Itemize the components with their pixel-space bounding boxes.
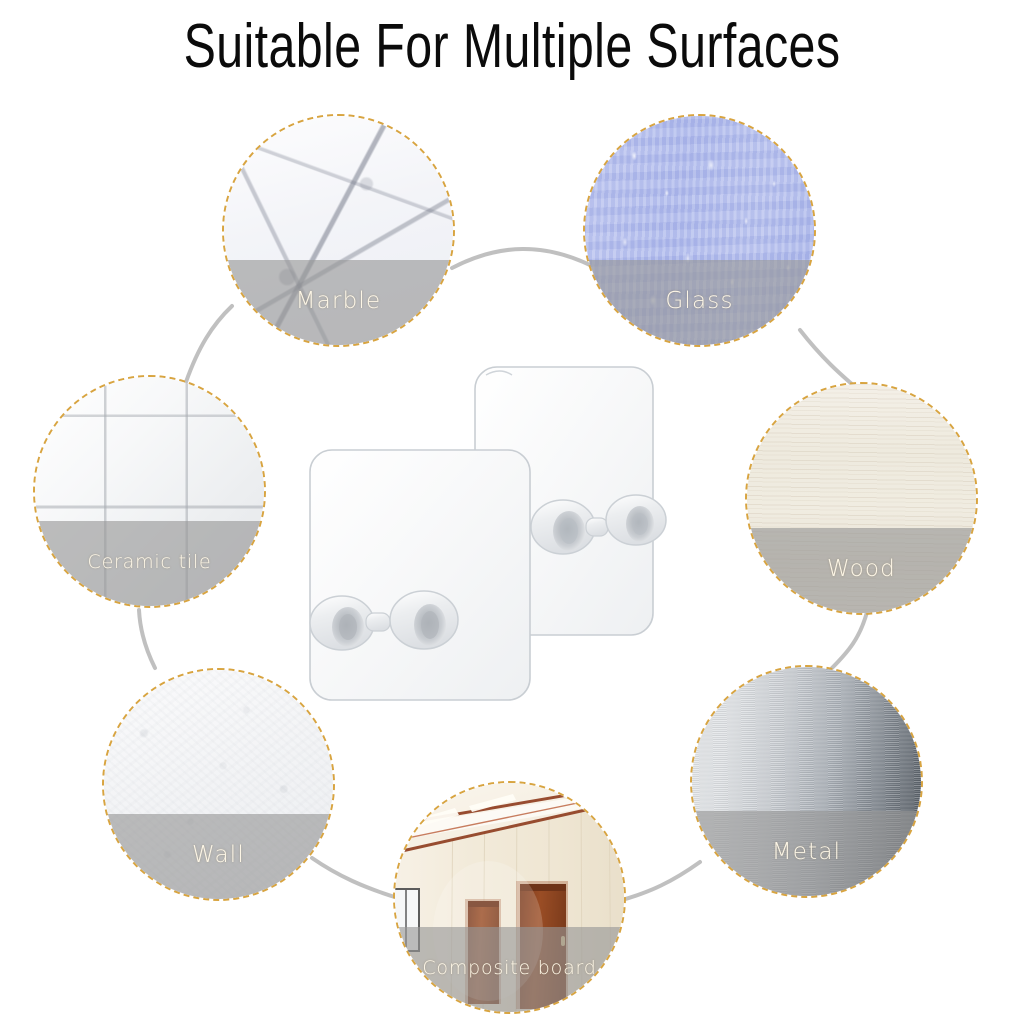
surface-label-wood: Wood (827, 556, 896, 582)
surface-circle-wood[interactable]: Wood (745, 382, 978, 615)
surface-label-band: Glass (583, 260, 816, 347)
surface-label-band: Ceramic tile (33, 521, 266, 608)
surface-circle-composite-board[interactable]: Composite board (393, 781, 626, 1014)
infographic-canvas: Suitable For Multiple Surfaces (0, 0, 1024, 1024)
surface-label-composite-board: Composite board (422, 957, 596, 979)
surface-label-wall: Wall (192, 842, 245, 868)
link-wall-ceramic (139, 610, 155, 668)
surface-circle-metal[interactable]: Metal (690, 665, 923, 898)
surface-label-glass: Glass (665, 288, 733, 314)
surface-circle-glass[interactable]: Glass (583, 114, 816, 347)
surface-label-band: Wood (745, 528, 978, 615)
surface-label-band: Marble (222, 260, 455, 347)
surface-label-marble: Marble (296, 288, 382, 314)
hook-front-2 (390, 591, 458, 649)
product-adhesive-hooks (300, 355, 680, 715)
surface-circle-wall[interactable]: Wall (102, 668, 335, 901)
surface-label-ceramic-tile: Ceramic tile (88, 551, 212, 573)
hook-panel-front (310, 450, 530, 700)
surface-circle-marble[interactable]: Marble (222, 114, 455, 347)
surface-label-band: Composite board (393, 927, 626, 1014)
surface-label-band: Wall (102, 814, 335, 901)
hook-back-2 (606, 495, 666, 545)
surface-circle-ceramic-tile[interactable]: Ceramic tile (33, 375, 266, 608)
link-marble-glass (452, 249, 592, 268)
link-metal-composite (622, 862, 700, 900)
surface-label-band: Metal (690, 811, 923, 898)
link-wood-metal (832, 612, 867, 668)
surface-label-metal: Metal (772, 839, 842, 865)
